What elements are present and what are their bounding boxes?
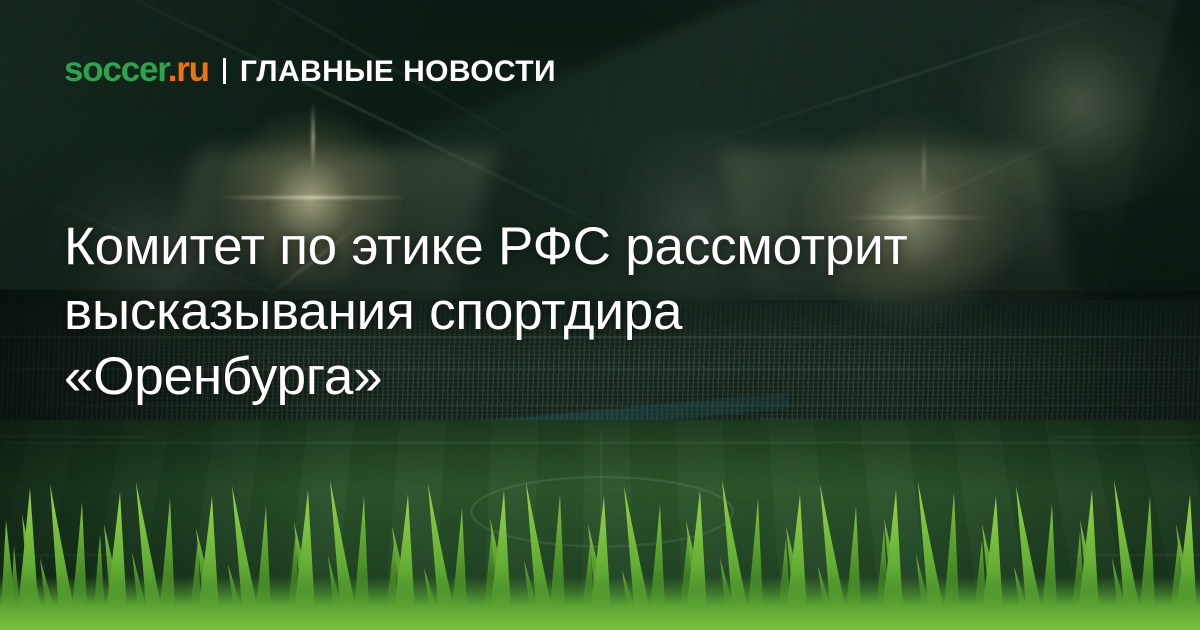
headline-line-1: Комитет по этике РФС рассмотрит (64, 214, 1064, 279)
header-kicker: ГЛАВНЫЕ НОВОСТИ (240, 57, 556, 87)
lens-flare-spike (923, 137, 926, 199)
headline-line-3: «Оренбурга» (64, 344, 1064, 409)
lens-flare-spike (218, 196, 408, 199)
logo-tld-part: .ru (168, 50, 209, 89)
headline: Комитет по этике РФС рассмотрит высказыв… (64, 214, 1064, 409)
header-separator-bar (223, 58, 226, 84)
card-header: soccer.ru ГЛАВНЫЕ НОВОСТИ (64, 52, 556, 87)
football-pitch (0, 420, 1200, 630)
logo-name-part: soccer (64, 50, 168, 89)
headline-line-2: высказывания спортдира (64, 279, 1064, 344)
news-share-card: soccer.ru ГЛАВНЫЕ НОВОСТИ Комитет по эти… (0, 0, 1200, 630)
lens-flare-spike (312, 103, 315, 173)
pitch-shading (0, 420, 1200, 630)
site-logo[interactable]: soccer.ru (64, 52, 209, 87)
